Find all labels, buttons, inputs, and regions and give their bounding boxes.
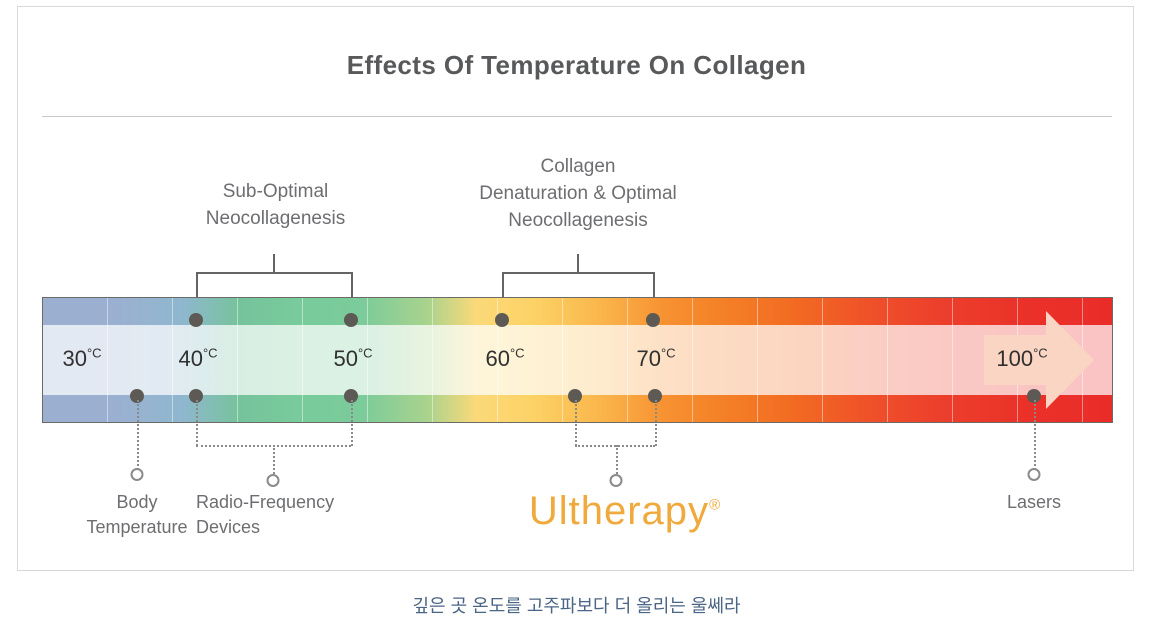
callout-endpoint-rf-devices (267, 474, 280, 487)
rf-line-stem (273, 445, 275, 477)
ultherapy-wordmark: Ultherapy® (510, 489, 740, 534)
bracket-leg-left (502, 272, 504, 298)
temp-label-100: 100°C (996, 346, 1047, 372)
temp-value: 40 (178, 346, 202, 371)
temp-unit: °C (1033, 346, 1048, 361)
rf-line-right (351, 400, 353, 446)
page-caption: 깊은 곳 온도를 고주파보다 더 올리는 울쎄라 (0, 592, 1153, 618)
range-bracket-denaturation (502, 272, 655, 298)
infographic-page: Effects Of Temperature On Collagen Sub-O… (0, 0, 1153, 633)
callout-endpoint-body-temp (131, 468, 144, 481)
marker-upper-60 (495, 313, 509, 327)
ulthera-line-horizontal (575, 445, 655, 447)
range-label-denaturation: Collagen Denaturation & Optimal Neocolla… (418, 153, 738, 234)
bracket-leg-right (351, 272, 353, 298)
temp-value: 60 (485, 346, 509, 371)
marker-upper-50 (344, 313, 358, 327)
temp-unit: °C (358, 346, 373, 361)
callout-endpoint-lasers (1028, 468, 1041, 481)
marker-upper-40 (189, 313, 203, 327)
temp-unit: °C (661, 346, 676, 361)
ulthera-line-right (655, 400, 657, 446)
callout-label-radio-frequency-devices: Radio-Frequency Devices (196, 490, 446, 540)
page-title: Effects Of Temperature On Collagen (0, 50, 1153, 81)
temp-label-70: 70°C (636, 346, 675, 372)
temp-value: 50 (333, 346, 357, 371)
temp-label-40: 40°C (178, 346, 217, 372)
bracket-stem (577, 254, 579, 274)
temp-label-60: 60°C (485, 346, 524, 372)
marker-upper-70 (646, 313, 660, 327)
range-bracket-sub-optimal (196, 272, 353, 298)
bracket-stem (273, 254, 275, 274)
range-label-sub-optimal: Sub-Optimal Neocollagenesis (118, 178, 433, 232)
temp-unit: °C (87, 346, 102, 361)
callout-label-lasers: Lasers (944, 490, 1124, 515)
callout-endpoint-ultherapy (610, 474, 623, 487)
ultherapy-name: Ultherapy (529, 489, 709, 533)
callout-line-body-temp (137, 400, 139, 470)
ulthera-line-stem (616, 445, 618, 477)
temp-value: 70 (636, 346, 660, 371)
temp-value: 30 (62, 346, 86, 371)
temp-label-50: 50°C (333, 346, 372, 372)
temp-unit: °C (203, 346, 218, 361)
title-divider (42, 116, 1112, 117)
ulthera-line-left (575, 400, 577, 446)
temp-unit: °C (510, 346, 525, 361)
rf-line-left (196, 400, 198, 446)
temp-value: 100 (996, 346, 1033, 371)
callout-line-lasers (1034, 400, 1036, 470)
registered-mark-icon: ® (709, 497, 721, 514)
bracket-leg-left (196, 272, 198, 298)
temp-label-30: 30°C (62, 346, 101, 372)
bracket-leg-right (653, 272, 655, 298)
